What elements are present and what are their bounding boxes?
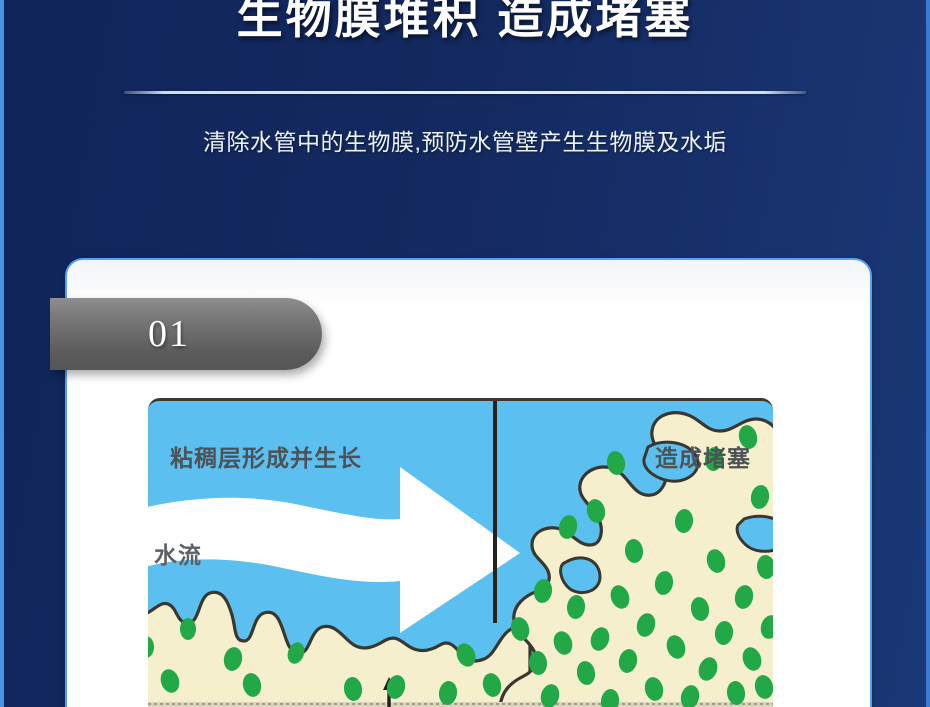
illustration-label-left: 粘稠层形成并生长 <box>170 439 362 473</box>
page-header: 生物膜堆积 造成堵塞 <box>0 0 930 48</box>
section-number-label: 01 <box>148 312 190 356</box>
vertical-divider-icon <box>493 401 497 623</box>
right-edge-strip <box>926 0 930 707</box>
product-detail-page: 生物膜堆积 造成堵塞 清除水管中的生物膜,预防水管壁产生生物膜及水垢 01 <box>0 0 930 707</box>
left-edge-strip <box>0 0 4 707</box>
page-title: 生物膜堆积 造成堵塞 <box>0 0 930 48</box>
illustration-label-flow: 水流 <box>154 536 202 570</box>
pipe-wall-icon <box>148 702 773 707</box>
section-number-badge: 01 <box>50 298 322 370</box>
page-subtitle: 清除水管中的生物膜,预防水管壁产生生物膜及水垢 <box>0 123 930 157</box>
illustration-label-right: 造成堵塞 <box>655 439 751 473</box>
title-divider <box>124 91 806 94</box>
water-pocket-icon <box>561 558 600 593</box>
biofilm-illustration: 粘稠层形成并生长 造成堵塞 水流 <box>148 398 773 707</box>
